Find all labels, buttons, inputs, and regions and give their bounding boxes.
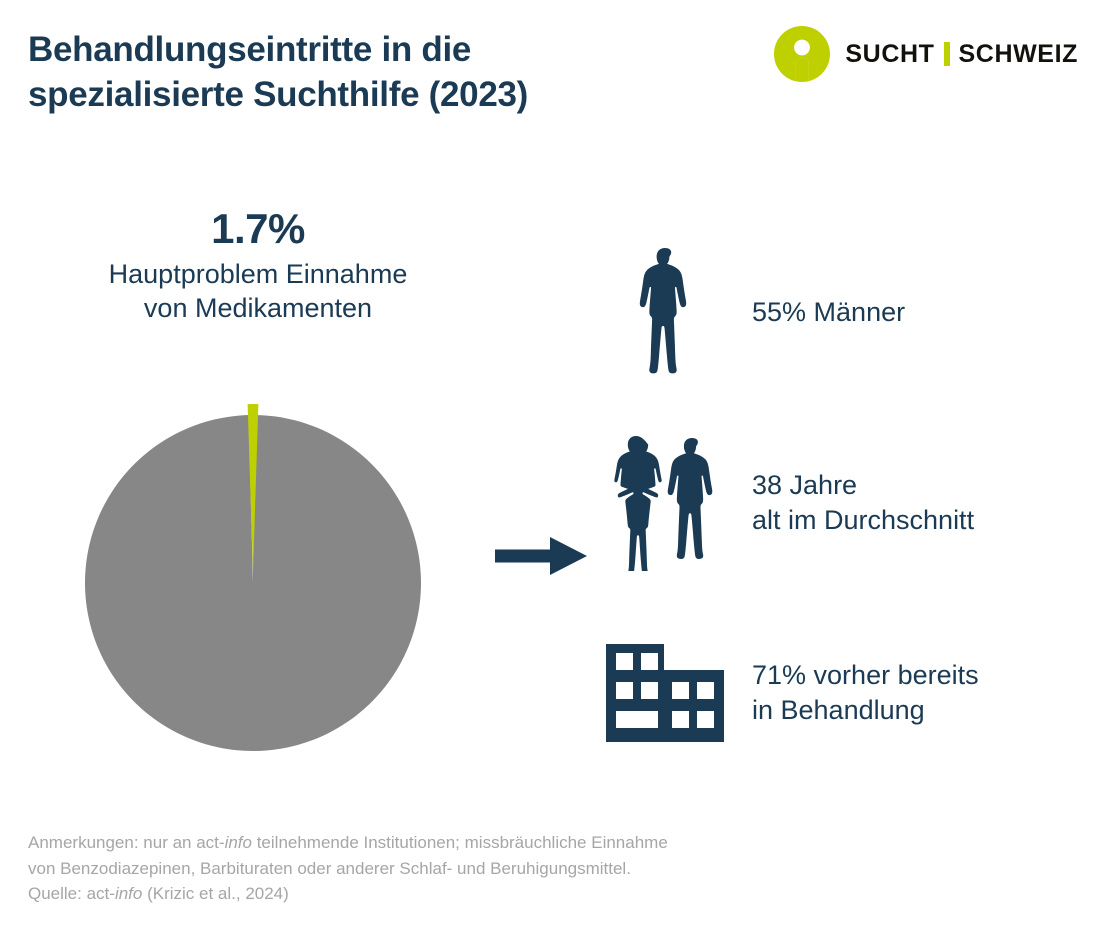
fact-row-gender: 55% Männer [600, 240, 1070, 385]
footnote-line-1-italic: info [225, 833, 252, 852]
footnote-line-3-b: (Krizic et al., 2024) [142, 884, 288, 903]
pie-chart [70, 358, 450, 778]
footnote-line-2: von Benzodiazepinen, Barbituraten oder a… [28, 856, 858, 882]
infographic-canvas: Behandlungseintritte in die spezialisier… [0, 0, 1096, 928]
footnote: Anmerkungen: nur an act-info teilnehmend… [28, 830, 858, 907]
logo-word-schweiz: SCHWEIZ [959, 42, 1078, 67]
footnote-line-1-b: teilnehmende Institutionen; missbräuchli… [252, 833, 668, 852]
fact-text-age: 38 Jahre alt im Durchschnitt [752, 468, 974, 537]
logo-wordmark: SUCHT SCHWEIZ [845, 42, 1078, 67]
building-icon [600, 644, 730, 742]
arrow-right-icon [495, 532, 587, 580]
brand-logo: SUCHT SCHWEIZ [774, 26, 1078, 82]
fact-row-age: 38 Jahre alt im Durchschnitt [600, 430, 1070, 575]
man-standing-icon [600, 247, 730, 379]
pie-value: 1.7% [48, 207, 468, 251]
pie-label: Hauptproblem Einnahme von Medikamenten [48, 257, 468, 325]
footnote-line-1-a: Anmerkungen: nur an act- [28, 833, 225, 852]
footnote-line-3-a: Quelle: act- [28, 884, 115, 903]
fact-text-gender: 55% Männer [752, 295, 905, 330]
footnote-line-1: Anmerkungen: nur an act-info teilnehmend… [28, 830, 858, 856]
facts-list: 55% Männer 38 Jahre alt im Durchschnitt [600, 240, 1070, 765]
sucht-schweiz-logo-icon [774, 26, 830, 82]
fact-text-prior-treatment: 71% vorher bereits in Behandlung [752, 658, 979, 727]
logo-word-sucht: SUCHT [845, 42, 934, 67]
fact-row-prior-treatment: 71% vorher bereits in Behandlung [600, 620, 1070, 765]
footnote-line-3-italic: info [115, 884, 142, 903]
footnote-line-3: Quelle: act-info (Krizic et al., 2024) [28, 881, 858, 907]
logo-divider-icon [944, 42, 950, 66]
pie-callout: 1.7% Hauptproblem Einnahme von Medikamen… [48, 207, 468, 325]
woman-and-man-standing-icon [600, 435, 730, 571]
page-title: Behandlungseintritte in die spezialisier… [28, 28, 728, 118]
